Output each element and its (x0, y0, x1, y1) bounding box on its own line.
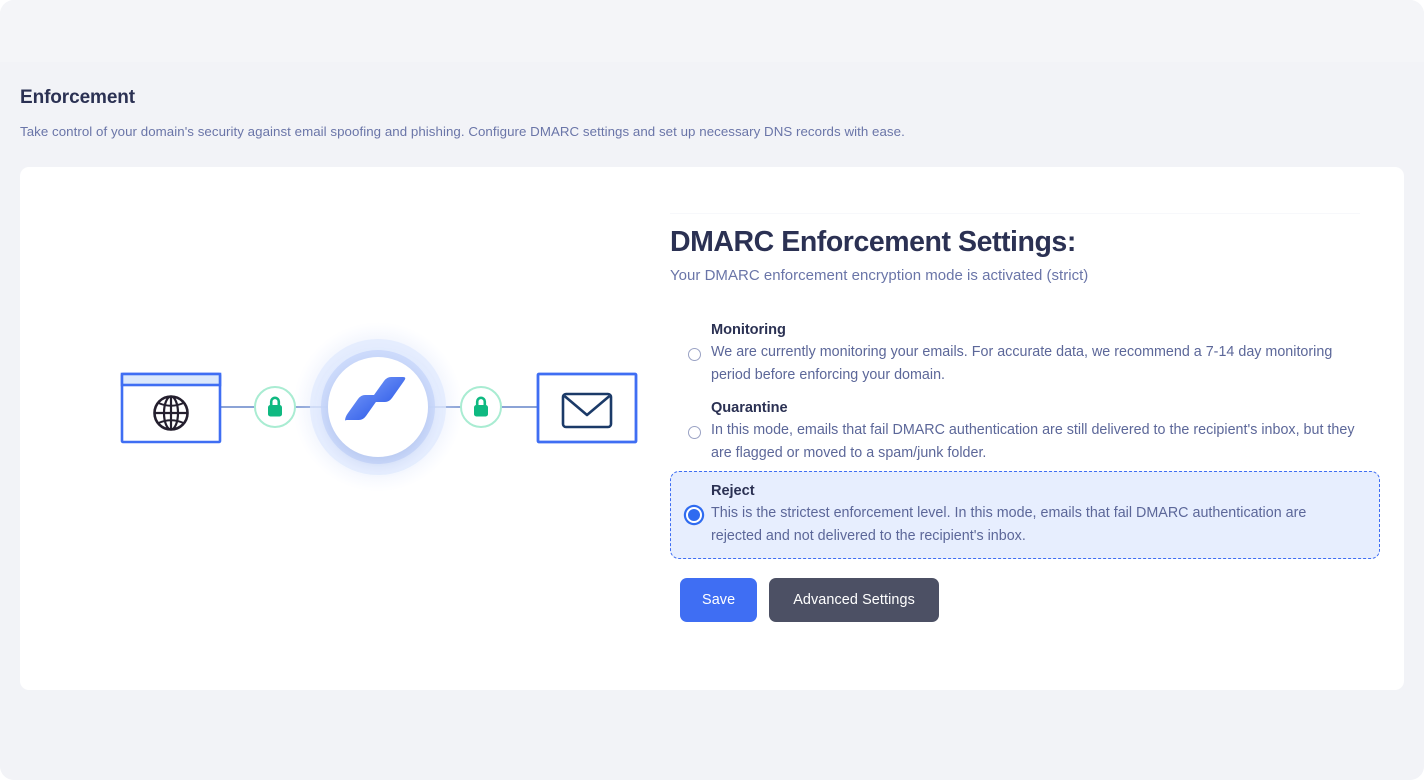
radio-reject[interactable] (686, 507, 702, 523)
advanced-settings-button[interactable]: Advanced Settings (769, 578, 939, 622)
bottom-spacer (0, 764, 1424, 780)
mail-box (538, 374, 636, 442)
option-label-monitoring: Monitoring (711, 320, 1367, 340)
enforcement-card: DMARC Enforcement Settings: Your DMARC e… (20, 167, 1404, 690)
radio-wrap-quarantine (681, 424, 707, 439)
option-label-reject: Reject (711, 481, 1367, 501)
radio-quarantine[interactable] (688, 426, 701, 439)
settings-subtitle: Your DMARC enforcement encryption mode i… (670, 266, 1380, 286)
lock-icon-left (255, 387, 295, 427)
browser-window-icon (122, 374, 220, 442)
page-title: Enforcement (20, 86, 1404, 110)
option-quarantine[interactable]: Quarantine In this mode, emails that fai… (670, 393, 1380, 471)
option-body-reject: Reject This is the strictest enforcement… (707, 481, 1367, 547)
option-label-quarantine: Quarantine (711, 398, 1367, 418)
option-reject[interactable]: Reject This is the strictest enforcement… (670, 471, 1380, 559)
option-description-monitoring: We are currently monitoring your emails.… (711, 341, 1361, 386)
radio-wrap-reject (681, 505, 707, 523)
option-description-quarantine: In this mode, emails that fail DMARC aut… (711, 419, 1361, 464)
page-subtitle: Take control of your domain's security a… (20, 123, 1404, 141)
brand-logo-icon (293, 322, 463, 492)
option-monitoring[interactable]: Monitoring We are currently monitoring y… (670, 315, 1380, 393)
radio-monitoring[interactable] (688, 348, 701, 361)
globe-icon (155, 397, 188, 430)
settings-title: DMARC Enforcement Settings: (670, 225, 1380, 259)
option-body-quarantine: Quarantine In this mode, emails that fai… (707, 398, 1367, 464)
radio-wrap-monitoring (681, 346, 707, 361)
action-button-row: Save Advanced Settings (680, 578, 1380, 622)
option-body-monitoring: Monitoring We are currently monitoring y… (707, 320, 1367, 386)
save-button[interactable]: Save (680, 578, 757, 622)
lock-icon-right (461, 387, 501, 427)
settings-pane: DMARC Enforcement Settings: Your DMARC e… (660, 167, 1404, 690)
illustration-pane (20, 167, 660, 690)
app-surface: Enforcement Take control of your domain'… (0, 0, 1424, 780)
option-description-reject: This is the strictest enforcement level.… (711, 502, 1361, 547)
envelope-icon (563, 394, 611, 427)
top-strip (0, 0, 1424, 62)
enforcement-options-list: Monitoring We are currently monitoring y… (670, 315, 1380, 559)
dmarc-flow-illustration (100, 287, 660, 527)
page-header: Enforcement Take control of your domain'… (0, 62, 1424, 167)
settings-divider (670, 213, 1360, 214)
